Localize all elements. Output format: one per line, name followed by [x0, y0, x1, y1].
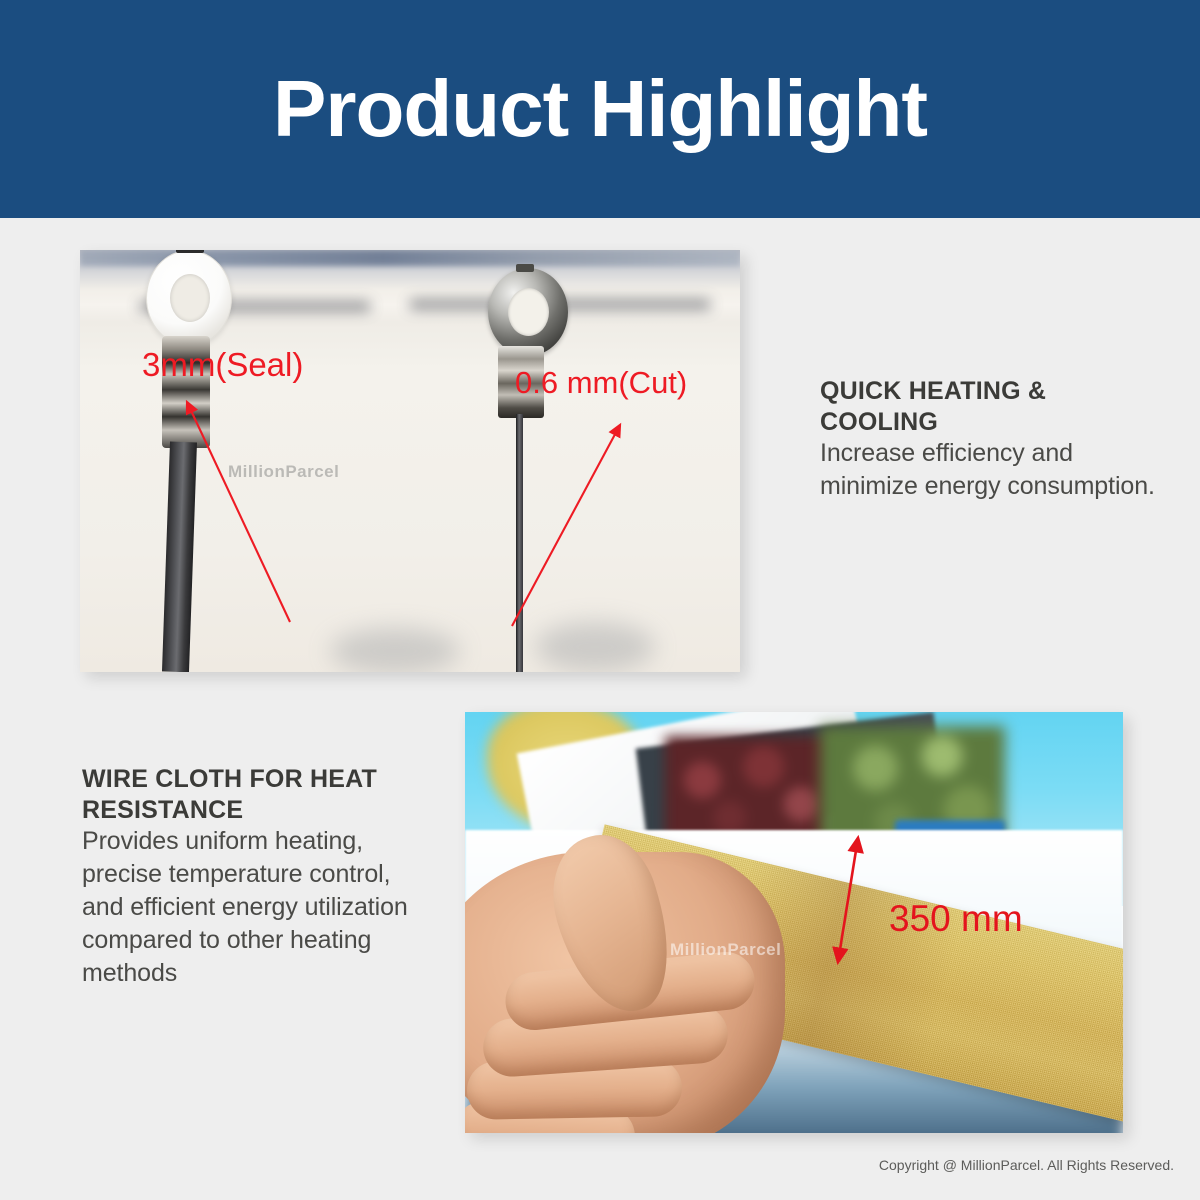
cut-wire	[516, 414, 523, 672]
header-banner: Product Highlight	[0, 0, 1200, 218]
feature-quick-heating-cooling: QUICK HEATING & COOLING Increase efficie…	[820, 376, 1160, 503]
photo-scene-bottom: 350 mm MillionParcel	[465, 712, 1123, 1133]
page-title: Product Highlight	[273, 69, 927, 149]
background-blur-blob-right	[535, 622, 655, 672]
feature-body: Provides uniform heating, precise temper…	[82, 825, 412, 990]
wire-cloth-tape-photo: 350 mm MillionParcel	[465, 712, 1123, 1133]
footer-copyright: Copyright @ MillionParcel. All Rights Re…	[879, 1157, 1174, 1173]
watermark-top: MillionParcel	[228, 462, 339, 482]
photo-scene-top: 3mm(Seal) 0.6 mm(Cut) MillionParcel	[80, 250, 740, 672]
dimension-label-seal: 3mm(Seal)	[142, 346, 303, 384]
feature-heading: WIRE CLOTH FOR HEAT RESISTANCE	[82, 764, 412, 825]
cut-ring-tab	[516, 264, 534, 272]
cut-arrow	[512, 425, 620, 626]
ring-terminal-comparison-photo: 3mm(Seal) 0.6 mm(Cut) MillionParcel	[80, 250, 740, 672]
sealed-ring-hole	[170, 274, 210, 322]
feature-heading: QUICK HEATING & COOLING	[820, 376, 1160, 437]
cut-ring-hole	[508, 288, 549, 336]
product-highlight-page: Product Highlight	[0, 0, 1200, 1200]
dimension-label-cut: 0.6 mm(Cut)	[515, 365, 687, 401]
dimension-label-350mm: 350 mm	[889, 898, 1023, 940]
feature-wire-cloth-heat-resistance: WIRE CLOTH FOR HEAT RESISTANCE Provides …	[82, 764, 412, 990]
sealed-ring-tab	[176, 250, 204, 253]
feature-body: Increase efficiency and minimize energy …	[820, 437, 1160, 503]
background-blur-blob-left	[330, 628, 460, 672]
sealed-wire	[162, 442, 197, 672]
